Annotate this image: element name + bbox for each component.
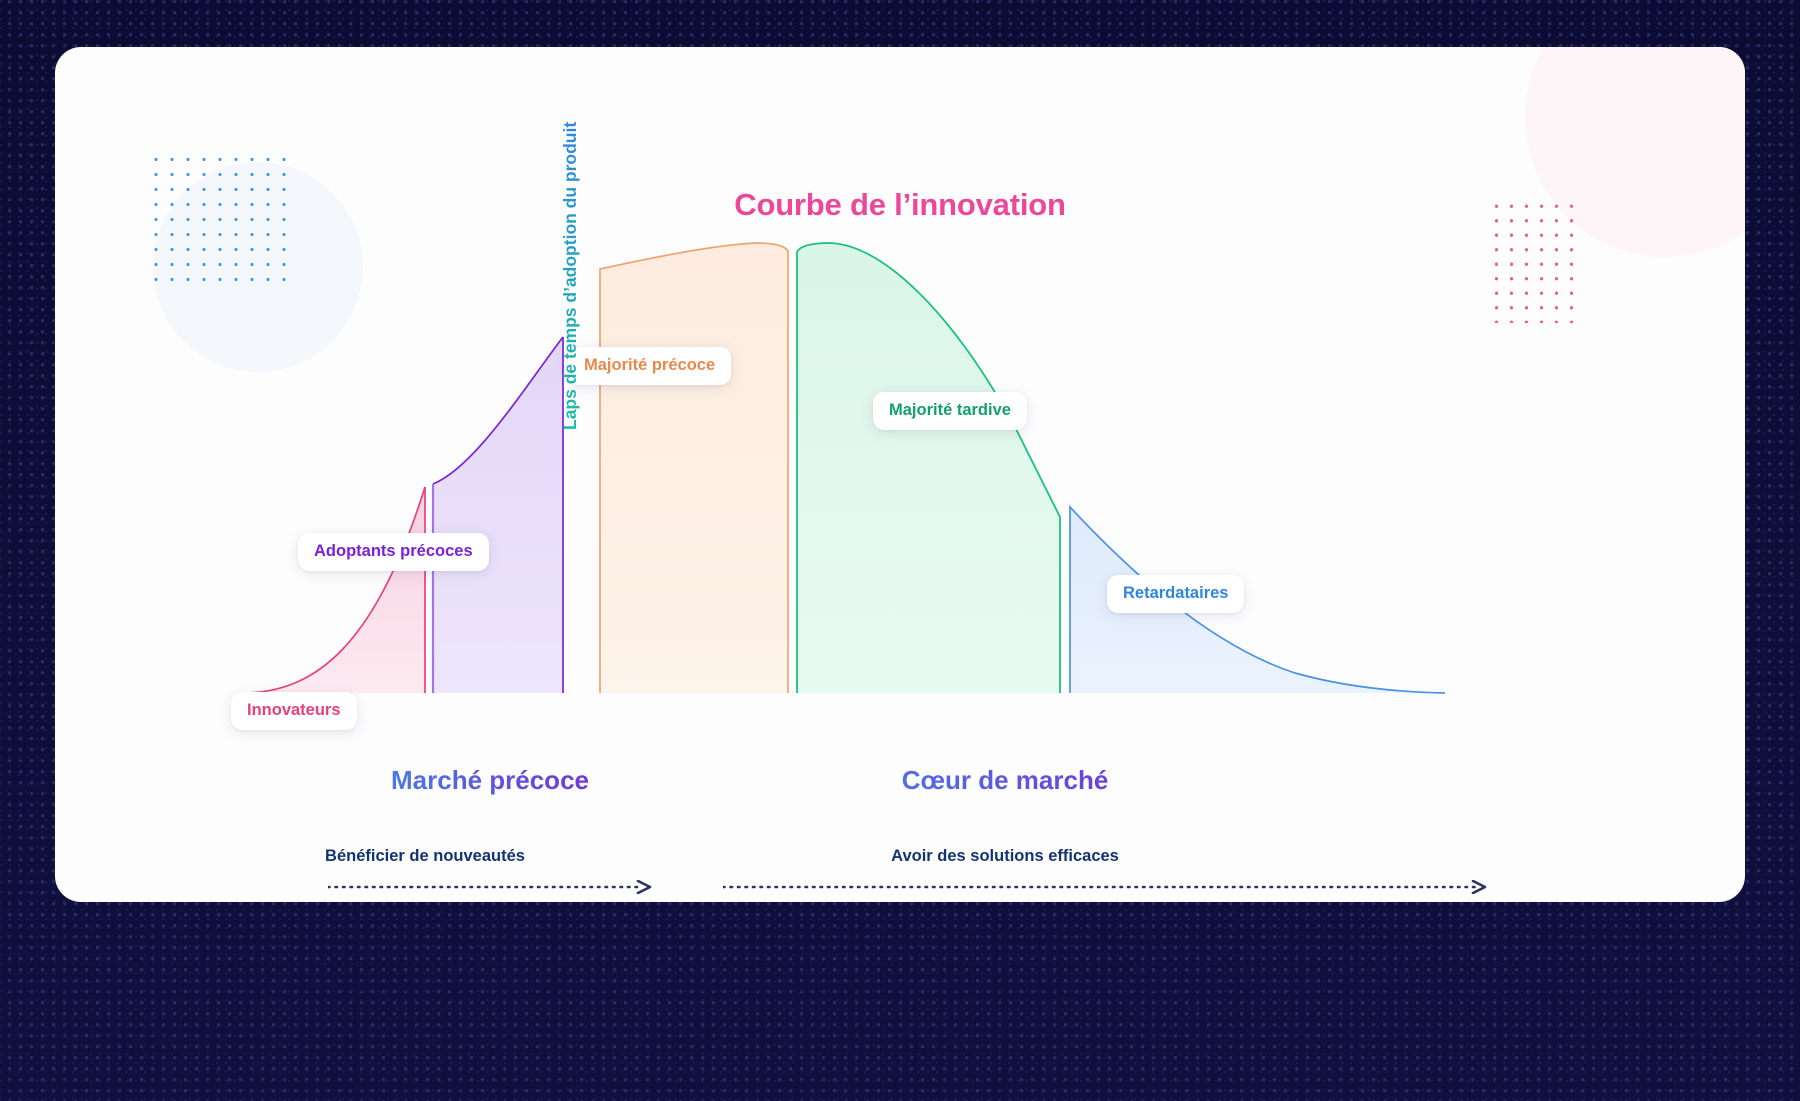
area-majorite-tardive xyxy=(797,243,1060,693)
area-adoptants-precoces xyxy=(433,337,563,693)
caption-right: Avoir des solutions efficaces xyxy=(755,847,1255,866)
label-retardataires[interactable]: Retardataires xyxy=(1107,575,1244,613)
label-innovateurs[interactable]: Innovateurs xyxy=(231,692,357,730)
area-innovateurs xyxy=(246,487,425,693)
segment-title-early-market: Marché précoce xyxy=(325,765,655,796)
area-majorite-precoce xyxy=(600,243,788,693)
caption-left: Bénéficier de nouveautés xyxy=(255,847,595,866)
slide-card: Courbe de l’innovation xyxy=(55,47,1745,902)
label-adoptants-precoces[interactable]: Adoptants précoces xyxy=(298,533,489,571)
segment-title-core-market: Cœur de marché xyxy=(755,765,1255,796)
label-majorite-precoce[interactable]: Majorité précoce xyxy=(568,347,731,385)
y-axis-label: Laps de temps d’adoption du produit xyxy=(560,110,581,430)
arrow-left-icon xyxy=(328,880,658,894)
arrow-right-icon xyxy=(723,880,1493,894)
label-majorite-tardive[interactable]: Majorité tardive xyxy=(873,392,1027,430)
